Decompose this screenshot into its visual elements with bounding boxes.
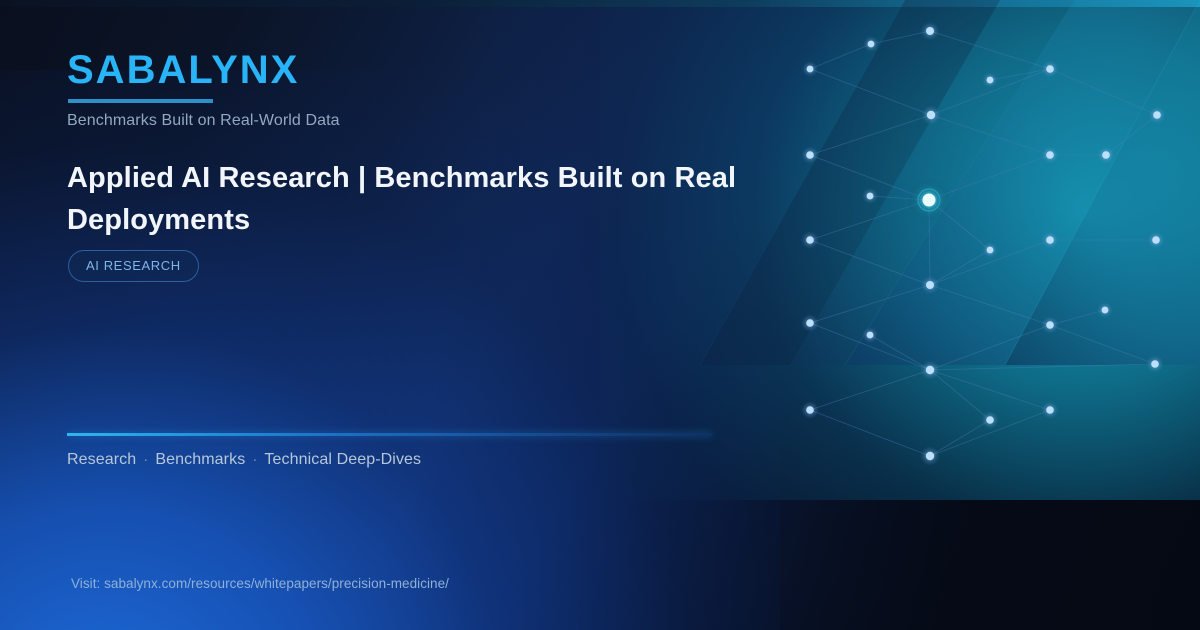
network-node [1046, 321, 1054, 329]
network-edge [1106, 115, 1157, 155]
network-node [867, 332, 874, 339]
network-edge [930, 250, 990, 285]
brand-tagline: Benchmarks Built on Real-World Data [67, 112, 340, 130]
page-title: Applied AI Research | Benchmarks Built o… [67, 157, 767, 241]
network-edge [870, 335, 930, 370]
section-divider [67, 433, 712, 436]
network-edge [810, 115, 931, 155]
network-node [1153, 111, 1161, 119]
network-node [1046, 236, 1054, 244]
network-node [926, 27, 934, 35]
network-node [1102, 307, 1109, 314]
link-separator: · [136, 451, 155, 468]
network-edge [810, 69, 931, 115]
network-node [926, 452, 934, 460]
network-edge [930, 370, 1050, 410]
network-node [1102, 151, 1110, 159]
network-edge [930, 31, 1050, 69]
network-hub-node [923, 194, 936, 207]
social-card: SABALYNX Benchmarks Built on Real-World … [0, 0, 1200, 630]
network-edge [930, 364, 1155, 370]
network-edge [930, 325, 1050, 370]
network-edge [810, 410, 930, 456]
network-node [1046, 65, 1054, 73]
network-node [867, 193, 874, 200]
brand-logo[interactable]: SABALYNX [67, 50, 299, 90]
network-edge [930, 370, 990, 420]
network-node [987, 77, 994, 84]
network-node [1046, 406, 1054, 414]
network-edge [810, 285, 930, 323]
footer-link-research[interactable]: Research [67, 451, 136, 468]
visit-url[interactable]: Visit: sabalynx.com/resources/whitepaper… [71, 576, 449, 591]
network-edge [810, 370, 930, 410]
footer-link-benchmarks[interactable]: Benchmarks [155, 451, 245, 468]
network-node [986, 416, 994, 424]
network-edge [810, 240, 930, 285]
network-node [926, 366, 934, 374]
network-node [1046, 151, 1054, 159]
network-node [1152, 236, 1160, 244]
footer-link-technical-deep-dives[interactable]: Technical Deep-Dives [264, 451, 421, 468]
content-column: SABALYNX Benchmarks Built on Real-World … [67, 0, 827, 630]
network-node [987, 247, 994, 254]
network-edge [990, 69, 1050, 80]
network-edge [930, 420, 990, 456]
link-separator: · [245, 451, 264, 468]
network-edge [1050, 69, 1157, 115]
network-edge [1050, 325, 1155, 364]
network-node [926, 281, 934, 289]
status-badge[interactable]: AI RESEARCH [68, 250, 199, 282]
footer-links: Research·Benchmarks·Technical Deep-Dives [67, 451, 421, 469]
network-node [868, 41, 875, 48]
network-nodes [801, 21, 1166, 466]
network-edge [931, 115, 1050, 155]
network-node [1151, 360, 1159, 368]
network-edge [930, 285, 1050, 325]
brand-logo-underline [68, 99, 213, 103]
network-node [927, 111, 935, 119]
network-edges [810, 31, 1157, 456]
